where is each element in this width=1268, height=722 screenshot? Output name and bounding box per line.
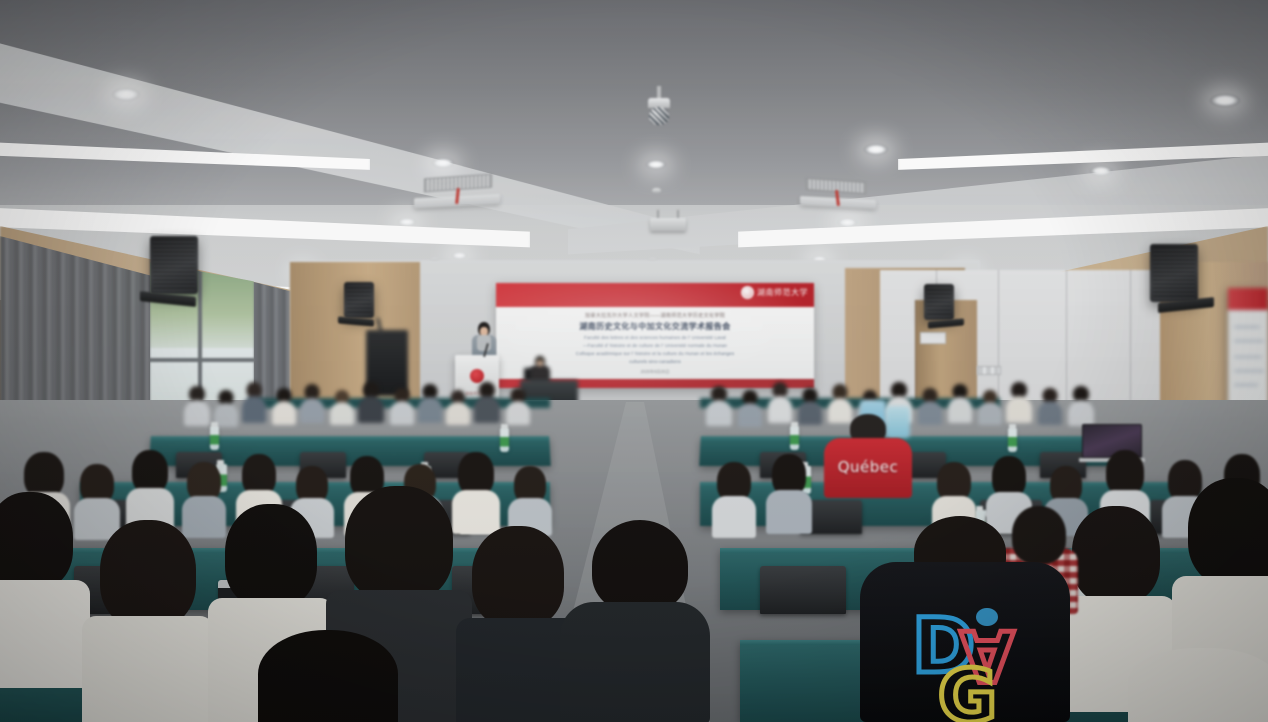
- downlight-icon: [838, 218, 857, 227]
- slide-french-line-1: Faculté des lettres et des sciences huma…: [506, 335, 804, 340]
- audience-member-quebec-shirt: Québec: [824, 424, 912, 498]
- downlight-icon: [432, 158, 454, 168]
- audience-member-dag-shirt: D A G: [860, 520, 1070, 722]
- room-sign: [920, 332, 946, 344]
- downlight-icon: [452, 252, 467, 259]
- university-logo: 湖南师范大学: [741, 286, 808, 299]
- conference-hall-photo: 湖南师范大学 加拿大拉瓦尔大学人文学院——湖南师范大学历史文化学院 湖南历史文化…: [0, 0, 1268, 722]
- audience-foreground-left: [258, 630, 398, 722]
- ceiling-projector: [650, 218, 686, 231]
- dag-letter-g: G: [938, 660, 997, 722]
- mirror-ball-icon: [646, 96, 672, 126]
- chair: [760, 566, 846, 614]
- smoke-detector-icon: [652, 188, 661, 193]
- wall-speaker: [1150, 244, 1198, 302]
- university-logo-text: 湖南师范大学: [757, 287, 808, 298]
- projection-screen-secondary: [1228, 288, 1268, 408]
- downlight-icon: [646, 160, 666, 169]
- wall-speaker: [924, 284, 954, 320]
- wall-speaker: [344, 282, 374, 318]
- quebec-shirt-text: Québec: [824, 458, 912, 476]
- slide-organizer-line: 加拿大拉瓦尔大学人文学院——湖南师范大学历史文化学院: [506, 312, 804, 319]
- slide-french-line-2: —Faculté d' histoire et de culture de l'…: [506, 343, 804, 348]
- downlight-icon: [1210, 94, 1240, 107]
- audience-foreground-right: [1128, 648, 1268, 722]
- university-crest-icon: [741, 286, 754, 299]
- downlight-icon: [864, 144, 888, 155]
- audience-member-black-tee: [560, 520, 710, 722]
- slide-header-band: 湖南师范大学: [496, 283, 814, 307]
- downlight-icon: [398, 218, 416, 226]
- slide-french-line-4: culturels sino-canadiens: [506, 359, 804, 364]
- downlight-icon: [1090, 166, 1112, 176]
- slide-french-line-3: Colloque académique sur l' histoire et l…: [506, 351, 804, 356]
- slide-main-title: 湖南历史文化与中加文化交流学术报告会: [506, 321, 804, 332]
- downlight-icon: [112, 88, 140, 101]
- wall-speaker: [150, 236, 198, 294]
